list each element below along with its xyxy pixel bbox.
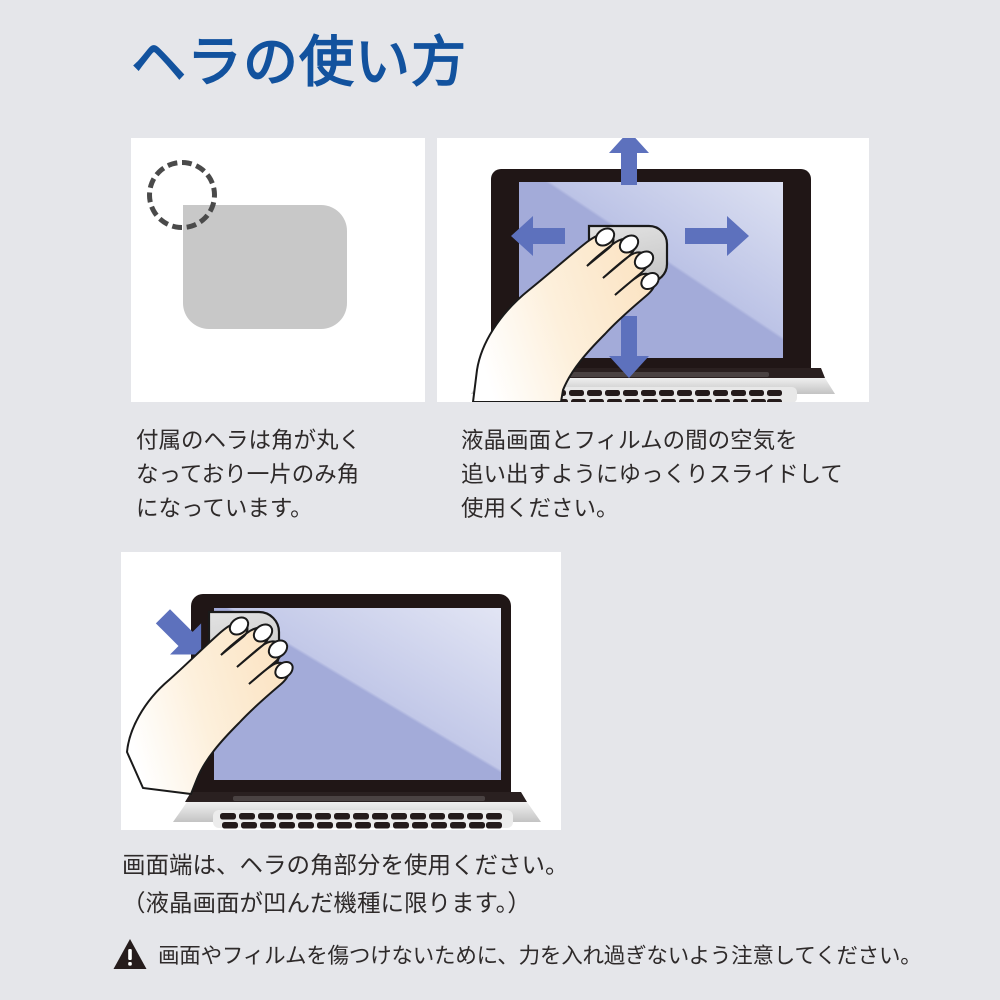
panel-2-caption: 液晶画面とフィルムの間の空気を 追い出すようにゆっくりスライドして 使用ください… <box>461 424 891 526</box>
warning-note-text: 画面やフィルムを傷つけないために、力を入れ過ぎないよう注意してください。 <box>158 939 922 970</box>
laptop-edge-illustration <box>121 552 561 830</box>
warning-note: 画面やフィルムを傷つけないために、力を入れ過ぎないよう注意してください。 <box>113 938 922 970</box>
dashed-highlight-circle-icon <box>147 160 217 230</box>
laptop-slide-illustration <box>437 138 869 402</box>
panel-slide-spatula <box>437 138 869 402</box>
warning-triangle-icon <box>113 938 147 970</box>
laptop-base <box>173 792 541 829</box>
panel-spatula-corner-detail <box>131 138 425 402</box>
page-title: ヘラの使い方 <box>131 32 467 93</box>
panel-1-caption: 付属のヘラは角が丸く なっており一片のみ角 になっています。 <box>136 424 436 526</box>
panel-3-caption: 画面端は、ヘラの角部分を使用ください。 （液晶画面が凹んだ機種に限ります。） <box>122 846 682 922</box>
instruction-sheet: ヘラの使い方 付属のヘラは角が丸く なっており一片のみ角 になっています。 <box>0 0 1000 1000</box>
spatula-shape-icon <box>183 205 347 329</box>
panel-spatula-corner-edge <box>121 552 561 830</box>
